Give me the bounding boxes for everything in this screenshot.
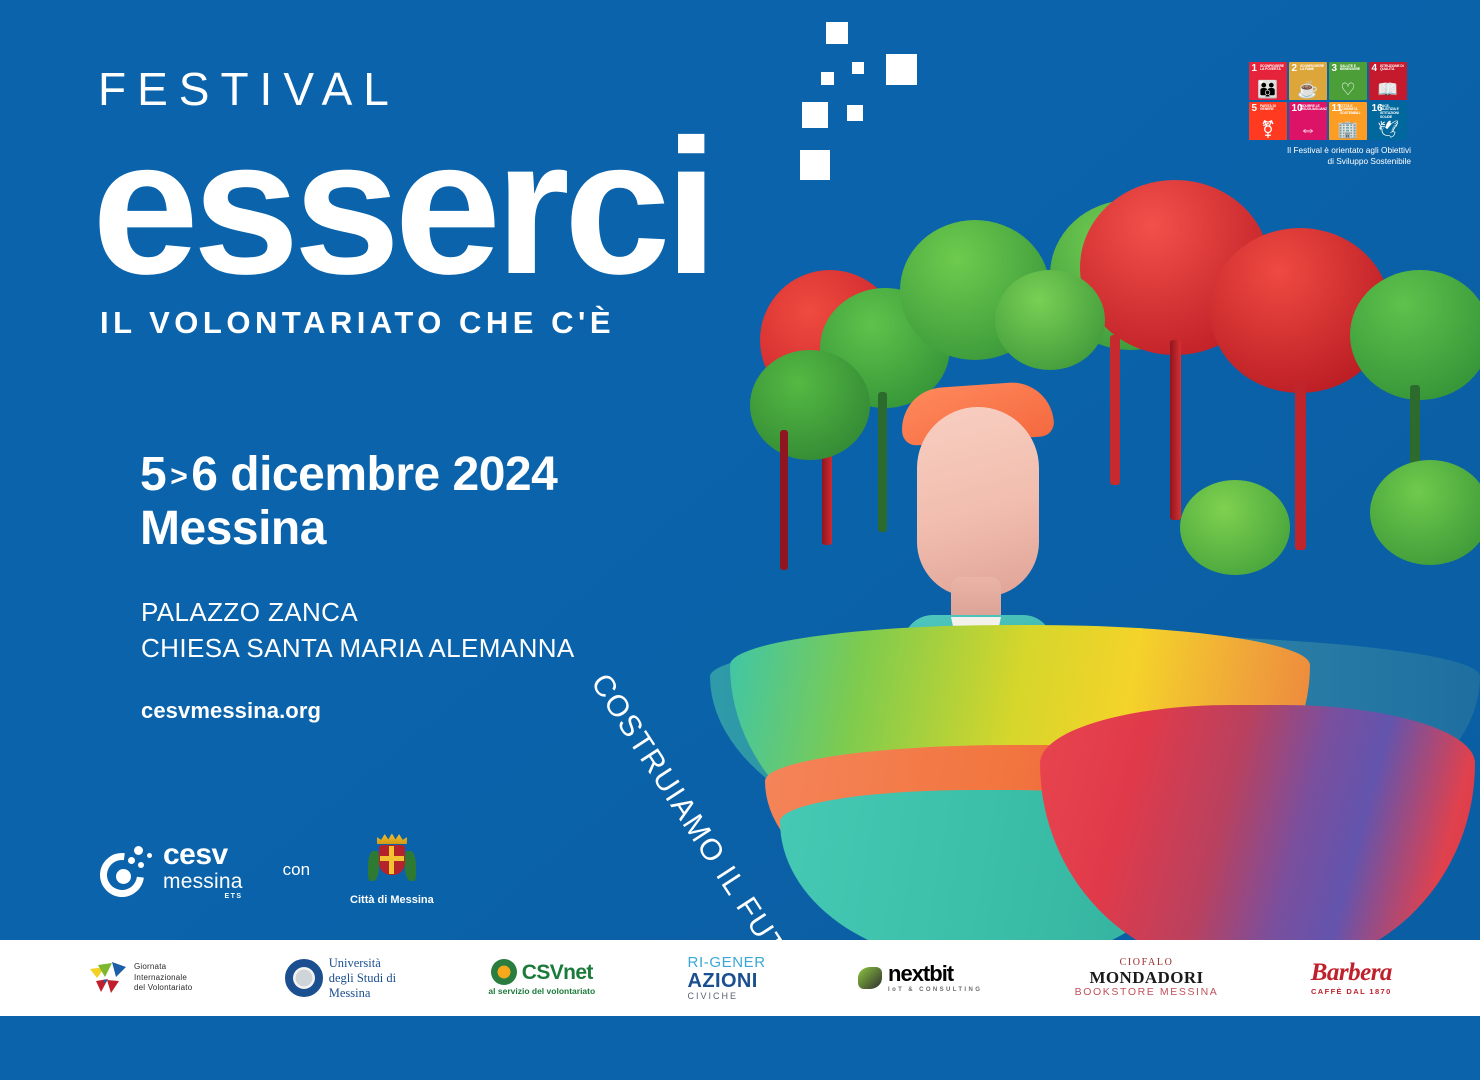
sdg-label: SCONFIGGERE LA POVERTÀ xyxy=(1260,65,1286,73)
equal-arrows-icon: ⇔ xyxy=(1289,121,1327,138)
event-day-from: 5 xyxy=(140,448,166,501)
sdg-block: 1 SCONFIGGERE LA POVERTÀ 👪 2 SCONFIGGERE… xyxy=(1249,62,1411,167)
sdg-number: 5 xyxy=(1252,104,1258,114)
cesv-place: messina xyxy=(163,871,243,892)
sdg-tile-2: 2 SCONFIGGERE LA FAME ☕ xyxy=(1289,62,1327,100)
trunk-icon xyxy=(1110,335,1120,485)
unime-line3: Messina xyxy=(329,986,396,1001)
sponsor-universita-messina: Università degli Studi di Messina xyxy=(285,956,396,1001)
venue-list: PALAZZO ZANCA CHIESA SANTA MARIA ALEMANN… xyxy=(141,595,575,667)
nextbit-name: nextbit xyxy=(888,963,982,985)
organizers-row: cesv messina ETS con Città di Messina xyxy=(100,833,434,906)
comune-logo: Città di Messina xyxy=(350,833,434,906)
giv-logo-icon xyxy=(88,961,128,995)
sdg-label: ISTRUZIONE DI QUALITÀ xyxy=(1380,65,1406,73)
barbera-tagline: CAFFÈ DAL 1870 xyxy=(1311,988,1392,996)
tree-icon xyxy=(1370,460,1480,565)
tree-icon xyxy=(1350,270,1480,400)
dove-gavel-icon: 🕊 xyxy=(1369,121,1407,138)
gender-equality-icon: ⚧ xyxy=(1249,121,1287,138)
sdg-label: SALUTE E BENESSERE xyxy=(1340,65,1366,73)
tree-icon xyxy=(995,270,1105,370)
sdg-tile-11: 11 CITTÀ E COMUNITÀ SOSTENIBILI 🏢 xyxy=(1329,102,1367,140)
illustration xyxy=(690,170,1480,1050)
event-date-rest: 6 dicembre 2024 xyxy=(191,448,557,501)
trunk-icon xyxy=(1295,380,1306,550)
nextbit-mark-icon xyxy=(858,967,882,989)
trunk-icon xyxy=(1170,340,1181,520)
unime-line1: Università xyxy=(329,956,396,971)
sdg-tile-3: 3 SALUTE E BENESSERE ♡ xyxy=(1329,62,1367,100)
sdg-number: 3 xyxy=(1332,64,1338,74)
sdg-tile-10: 10 RIDURRE LE DISUGUAGLIANZE ⇔ xyxy=(1289,102,1327,140)
heartbeat-icon: ♡ xyxy=(1329,81,1367,98)
mondadori-name: MONDADORI xyxy=(1075,968,1219,987)
venue-item: CHIESA SANTA MARIA ALEMANNA xyxy=(141,631,575,667)
sponsor-csvnet: CSVnet al servizio del volontariato xyxy=(488,959,595,996)
sdg-number: 2 xyxy=(1292,64,1298,74)
nextbit-tagline: IoT & CONSULTING xyxy=(888,987,982,993)
rigener-line2: AZIONI xyxy=(688,971,766,992)
mondadori-sub: BOOKSTORE MESSINA xyxy=(1075,987,1219,999)
sdg-label: SCONFIGGERE LA FAME xyxy=(1300,65,1326,73)
event-city: Messina xyxy=(140,502,557,556)
sdg-tile-1: 1 SCONFIGGERE LA POVERTÀ 👪 xyxy=(1249,62,1287,100)
tree-icon xyxy=(750,350,870,460)
sponsor-bar: Giornata Internazionale del Volontariato… xyxy=(0,940,1480,1016)
bowl-steam-icon: ☕ xyxy=(1289,81,1327,98)
sponsor-mondadori-bookstore: CIOFALO MONDADORI BOOKSTORE MESSINA xyxy=(1075,957,1219,999)
sdg-label: PACE, GIUSTIZIA E ISTITUZIONI SOLIDE xyxy=(1380,105,1406,121)
sdg-caption: Il Festival è orientato agli Obiettivi d… xyxy=(1249,145,1411,167)
sponsor-nextbit: nextbit IoT & CONSULTING xyxy=(858,963,982,993)
sdg-tile-5: 5 PARITÀ DI GENERE ⚧ xyxy=(1249,102,1287,140)
sponsor-giornata-internazionale-volontariato: Giornata Internazionale del Volontariato xyxy=(88,961,192,995)
cesv-suffix: ETS xyxy=(163,893,243,900)
csvnet-flower-icon xyxy=(491,959,517,985)
trunk-icon xyxy=(878,392,887,532)
csvnet-name: CSVnet xyxy=(522,962,593,983)
venue-item: PALAZZO ZANCA xyxy=(141,595,575,631)
ciofalo-label: CIOFALO xyxy=(1075,957,1219,968)
unime-text: Università degli Studi di Messina xyxy=(329,956,396,1001)
sdg-number: 1 xyxy=(1252,64,1258,74)
city-buildings-icon: 🏢 xyxy=(1329,121,1367,138)
sdg-caption-line2: di Sviluppo Sostenibile xyxy=(1249,156,1411,167)
conjunction-label: con xyxy=(283,860,310,880)
barbera-name: Barbera xyxy=(1311,960,1392,986)
sponsor-list: Giornata Internazionale del Volontariato… xyxy=(0,940,1480,1016)
sdg-tile-4: 4 ISTRUZIONE DI QUALITÀ 📖 xyxy=(1369,62,1407,100)
event-date-block: 5>6 dicembre 2024 Messina xyxy=(140,448,557,556)
rainbow-bowl xyxy=(710,625,1480,975)
cesv-logo: cesv messina ETS xyxy=(100,840,243,900)
head-shape xyxy=(917,407,1039,597)
date-arrow-icon: > xyxy=(166,460,191,493)
sdg-label: CITTÀ E COMUNITÀ SOSTENIBILI xyxy=(1340,105,1366,117)
cesv-name: cesv xyxy=(163,840,243,870)
sdg-caption-line1: Il Festival è orientato agli Obiettivi xyxy=(1249,145,1411,156)
poster-canvas: FESTIVAL esserci IL VOLONTARIATO CHE C'È… xyxy=(0,0,1480,1080)
sdg-label: RIDURRE LE DISUGUAGLIANZE xyxy=(1300,105,1326,113)
tree-icon xyxy=(1180,480,1290,575)
forest-scene xyxy=(750,180,1480,700)
sdg-tile-16: 16 PACE, GIUSTIZIA E ISTITUZIONI SOLIDE … xyxy=(1369,102,1407,140)
event-date: 5>6 dicembre 2024 xyxy=(140,448,557,502)
website-link[interactable]: cesvmessina.org xyxy=(141,698,321,724)
rigener-line1: RI-GENER xyxy=(688,955,766,971)
cesv-wordmark: cesv messina ETS xyxy=(163,840,243,900)
sponsor-barbera-caffe: Barbera CAFFÈ DAL 1870 xyxy=(1311,960,1392,995)
unime-line2: degli Studi di xyxy=(329,971,396,986)
bottom-strip xyxy=(0,1016,1480,1080)
giv-text: Giornata Internazionale del Volontariato xyxy=(134,962,192,994)
giv-line1: Giornata xyxy=(134,962,192,973)
nextbit-wordmark: nextbit IoT & CONSULTING xyxy=(888,963,982,993)
giv-line3: del Volontariato xyxy=(134,983,192,994)
sdg-number: 4 xyxy=(1372,64,1378,74)
open-book-icon: 📖 xyxy=(1369,81,1407,98)
trunk-icon xyxy=(780,430,788,570)
rigener-line3: CIVICHE xyxy=(688,992,766,1001)
sdg-grid: 1 SCONFIGGERE LA POVERTÀ 👪 2 SCONFIGGERE… xyxy=(1249,62,1411,140)
people-icon: 👪 xyxy=(1249,81,1287,98)
university-seal-icon xyxy=(285,959,323,997)
sdg-label: PARITÀ DI GENERE xyxy=(1260,105,1286,113)
sponsor-ri-gener-azioni-civiche: RI-GENER AZIONI CIVICHE xyxy=(688,955,766,1001)
comune-name: Città di Messina xyxy=(350,894,434,906)
coat-of-arms-icon xyxy=(366,833,418,891)
csvnet-tagline: al servizio del volontariato xyxy=(488,986,595,996)
cesv-mark-icon xyxy=(100,843,154,897)
giv-line2: Internazionale xyxy=(134,973,192,984)
